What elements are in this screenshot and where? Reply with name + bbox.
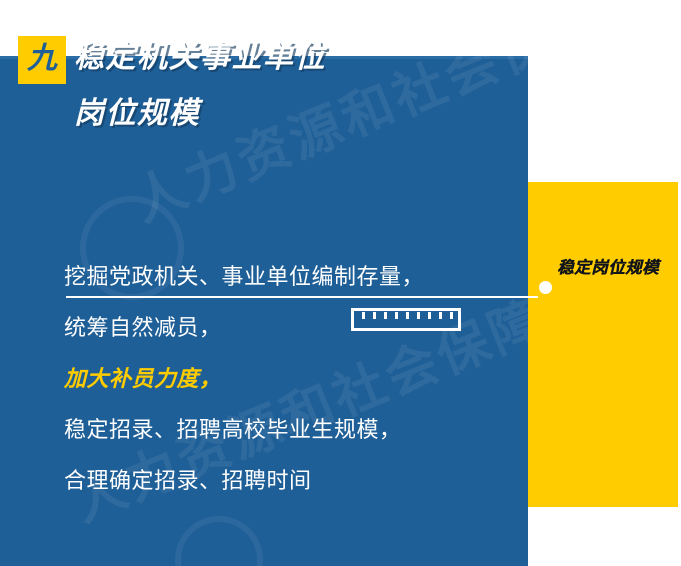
body-line-4: 稳定招录、招聘高校毕业生规模， [64,405,524,456]
callout-panel: 稳定岗位规模 [528,182,678,507]
poster-canvas: 稳定岗位规模 人力资源和社会保障 人力资源和社会保障 九 稳定机关事业单位 岗位… [0,0,681,566]
callout-label: 稳定岗位规模 [528,254,678,278]
body-line-5: 合理确定招录、招聘时间 [64,456,524,507]
callout-connector-line [66,296,538,298]
ruler-icon [351,308,461,331]
watermark-ring-secondary-icon [175,516,263,566]
connector-dot-icon [539,281,552,294]
page-title-line-2: 岗位规模 [74,86,514,142]
page-title-line-1: 稳定机关事业单位 [74,30,514,86]
page-title: 稳定机关事业单位 岗位规模 [74,30,514,142]
section-number-badge: 九 [18,36,66,84]
body-line-3-highlight: 加大补员力度， [64,354,524,405]
body-text: 挖掘党政机关、事业单位编制存量， 统筹自然减员， 加大补员力度， 稳定招录、招聘… [64,252,524,507]
